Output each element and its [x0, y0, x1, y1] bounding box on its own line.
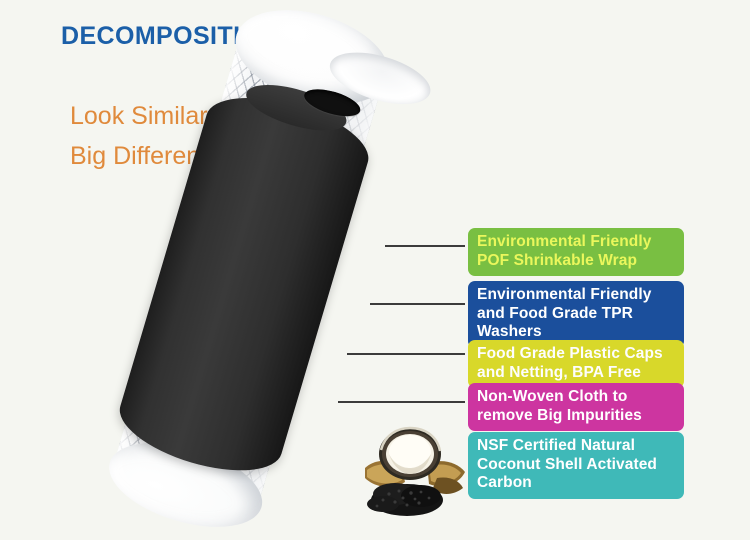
leader-line-tpr-washers — [370, 303, 465, 305]
callout-line: NSF Certified Natural — [477, 437, 675, 456]
callout-line: Food Grade Plastic Caps — [477, 345, 675, 364]
coconut-carbon-image — [355, 420, 475, 520]
callout-line: Environmental Friendly — [477, 286, 675, 305]
callout-pof-wrap[interactable]: Environmental Friendly POF Shrinkable Wr… — [468, 228, 684, 276]
callout-line: Washers — [477, 323, 675, 342]
coconut-icon — [355, 420, 475, 520]
callout-nsf-carbon[interactable]: NSF Certified Natural Coconut Shell Acti… — [468, 432, 684, 499]
callout-line: remove Big Impurities — [477, 407, 675, 426]
callout-caps-netting[interactable]: Food Grade Plastic Caps and Netting, BPA… — [468, 340, 684, 388]
leader-line-pof-wrap — [385, 245, 465, 247]
leader-line-non-woven-cloth — [338, 401, 465, 403]
callout-tpr-washers[interactable]: Environmental Friendly and Food Grade TP… — [468, 281, 684, 348]
carbon-block-body — [111, 82, 378, 486]
callout-line: and Food Grade TPR — [477, 305, 675, 324]
callout-non-woven-cloth[interactable]: Non-Woven Cloth to remove Big Impurities — [468, 383, 684, 431]
infographic-canvas: DECOMPOSITION Look Similar, Big Differen… — [0, 0, 750, 540]
callout-line: Environmental Friendly — [477, 233, 675, 252]
callout-line: Coconut Shell Activated — [477, 456, 675, 475]
callout-line: Carbon — [477, 474, 675, 493]
leader-line-caps-netting — [347, 353, 465, 355]
callout-line: Non-Woven Cloth to — [477, 388, 675, 407]
callout-line: and Netting, BPA Free — [477, 364, 675, 383]
callout-line: POF Shrinkable Wrap — [477, 252, 675, 271]
